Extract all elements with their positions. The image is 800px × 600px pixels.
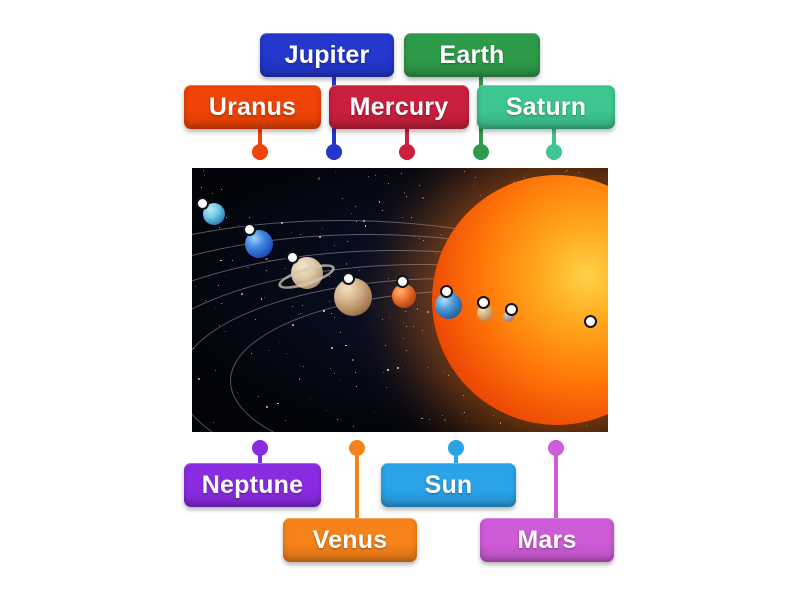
- marker-6[interactable]: [440, 285, 453, 298]
- marker-9[interactable]: [584, 315, 597, 328]
- label-tile-earth[interactable]: Earth: [404, 33, 540, 77]
- marker-5[interactable]: [396, 275, 409, 288]
- pin-dot-mars[interactable]: [548, 440, 564, 456]
- label-tile-neptune[interactable]: Neptune: [184, 463, 321, 507]
- label-tile-sun[interactable]: Sun: [381, 463, 516, 507]
- pin-dot-neptune[interactable]: [252, 440, 268, 456]
- mars-body: [392, 284, 416, 308]
- pin-dot-saturn[interactable]: [546, 144, 562, 160]
- diagram-image[interactable]: [192, 168, 608, 432]
- pin-dot-jupiter[interactable]: [326, 144, 342, 160]
- label-tile-uranus[interactable]: Uranus: [184, 85, 321, 129]
- marker-3[interactable]: [286, 251, 299, 264]
- pin-dot-venus[interactable]: [349, 440, 365, 456]
- pin-neptune[interactable]: [252, 440, 268, 463]
- pin-dot-sun[interactable]: [448, 440, 464, 456]
- pin-uranus[interactable]: [252, 129, 268, 160]
- pin-venus[interactable]: [349, 440, 365, 518]
- pin-saturn[interactable]: [546, 129, 562, 160]
- pin-dot-uranus[interactable]: [252, 144, 268, 160]
- pin-mercury[interactable]: [399, 129, 415, 160]
- marker-8[interactable]: [505, 303, 518, 316]
- label-tile-saturn[interactable]: Saturn: [477, 85, 615, 129]
- pin-dot-earth[interactable]: [473, 144, 489, 160]
- pin-sun[interactable]: [448, 440, 464, 463]
- activity-stage: UranusJupiterMercuryEarthSaturnNeptuneVe…: [0, 0, 800, 600]
- label-tile-mercury[interactable]: Mercury: [329, 85, 469, 129]
- marker-1[interactable]: [196, 197, 209, 210]
- label-tile-venus[interactable]: Venus: [283, 518, 417, 562]
- marker-4[interactable]: [342, 272, 355, 285]
- marker-7[interactable]: [477, 296, 490, 309]
- jupiter-body: [334, 278, 372, 316]
- pin-mars[interactable]: [548, 440, 564, 518]
- pin-dot-mercury[interactable]: [399, 144, 415, 160]
- label-tile-jupiter[interactable]: Jupiter: [260, 33, 394, 77]
- marker-2[interactable]: [243, 223, 256, 236]
- label-tile-mars[interactable]: Mars: [480, 518, 614, 562]
